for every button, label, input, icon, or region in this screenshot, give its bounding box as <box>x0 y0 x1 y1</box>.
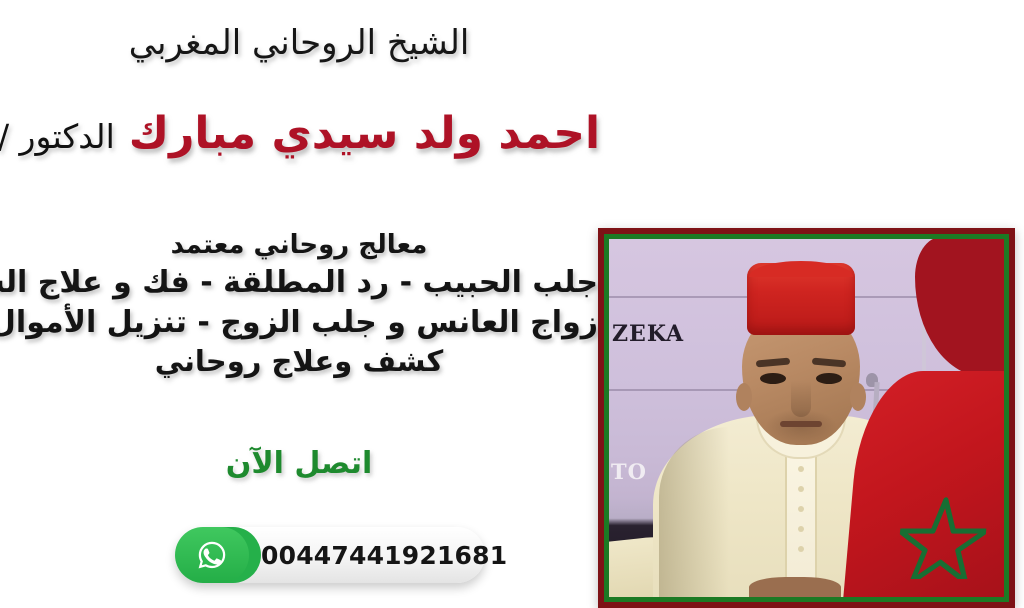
practitioner-name: احمد ولد سيدي مبارك <box>129 108 600 159</box>
robe-button <box>798 526 804 532</box>
person-ear-right <box>850 383 866 411</box>
whatsapp-icon <box>195 538 229 572</box>
portrait-frame: ZEKA TO <box>598 228 1015 608</box>
service-line-1: معالج روحاني معتمد <box>0 228 598 263</box>
text-column: الشيخ الروحاني المغربي احمد ولد سيدي مبا… <box>0 0 598 608</box>
whatsapp-icon-container <box>175 527 261 583</box>
whatsapp-icon-badge[interactable] <box>175 527 249 583</box>
person-eyebrow-left <box>755 358 789 368</box>
person-ear-left <box>736 383 752 411</box>
call-now-label: اتصل الآن <box>0 446 598 481</box>
practitioner-name-row: احمد ولد سيدي مبارك الدكتور / <box>0 108 598 159</box>
backdrop-text-to: TO <box>611 459 647 484</box>
person-hands <box>749 577 841 597</box>
page-title: الشيخ الروحاني المغربي <box>0 22 598 65</box>
pentagram-star-icon <box>896 493 990 579</box>
person-eye-left <box>760 373 786 384</box>
person-eye-right <box>816 373 842 384</box>
person-eyebrow-right <box>811 358 845 368</box>
robe-button <box>798 546 804 552</box>
phone-number[interactable]: 00447441921681 <box>261 541 523 570</box>
poster-canvas: الشيخ الروحاني المغربي احمد ولد سيدي مبا… <box>0 0 1024 608</box>
services-list: معالج روحاني معتمد جلب الحبيب - رد المطل… <box>0 228 598 381</box>
service-line-2: جلب الحبيب - رد المطلقة - فك و علاج السح… <box>0 263 598 303</box>
portrait-inner-border: ZEKA TO <box>604 234 1009 602</box>
robe-shadow-left <box>659 427 729 597</box>
service-line-3: زواج العانس و جلب الزوج - تنزيل الأموال <box>0 303 598 343</box>
person-mouth <box>780 421 822 427</box>
robe-button <box>798 466 804 472</box>
portrait-photo: ZEKA TO <box>609 239 1004 597</box>
whatsapp-contact-button[interactable]: 00447441921681 <box>175 527 485 583</box>
robe-button <box>798 506 804 512</box>
service-line-4: كشف وعلاج روحاني <box>0 342 598 381</box>
robe-button <box>798 486 804 492</box>
doctor-title-label: الدكتور / <box>0 117 115 156</box>
